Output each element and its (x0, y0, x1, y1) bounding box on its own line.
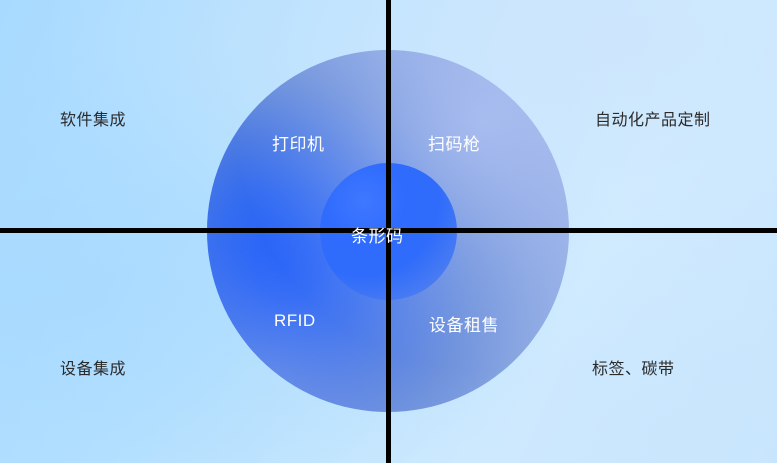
quadrant-label-bottom-right: 标签、碳带 (592, 355, 675, 379)
quadrant-label-top-right: 自动化产品定制 (595, 106, 711, 130)
diagram-canvas: 软件集成 自动化产品定制 设备集成 标签、碳带 打印机 扫码枪 RFID 设备租… (0, 0, 777, 463)
quadrant-label-top-left: 软件集成 (60, 106, 126, 130)
ring-label-scanner: 扫码枪 (428, 130, 481, 155)
ring-label-printer: 打印机 (272, 130, 325, 155)
ring-label-rfid: RFID (274, 311, 316, 331)
ring-label-equipment-rental: 设备租售 (429, 311, 499, 336)
quadrant-label-bottom-left: 设备集成 (60, 355, 126, 379)
core-label-barcode: 条形码 (351, 222, 404, 247)
